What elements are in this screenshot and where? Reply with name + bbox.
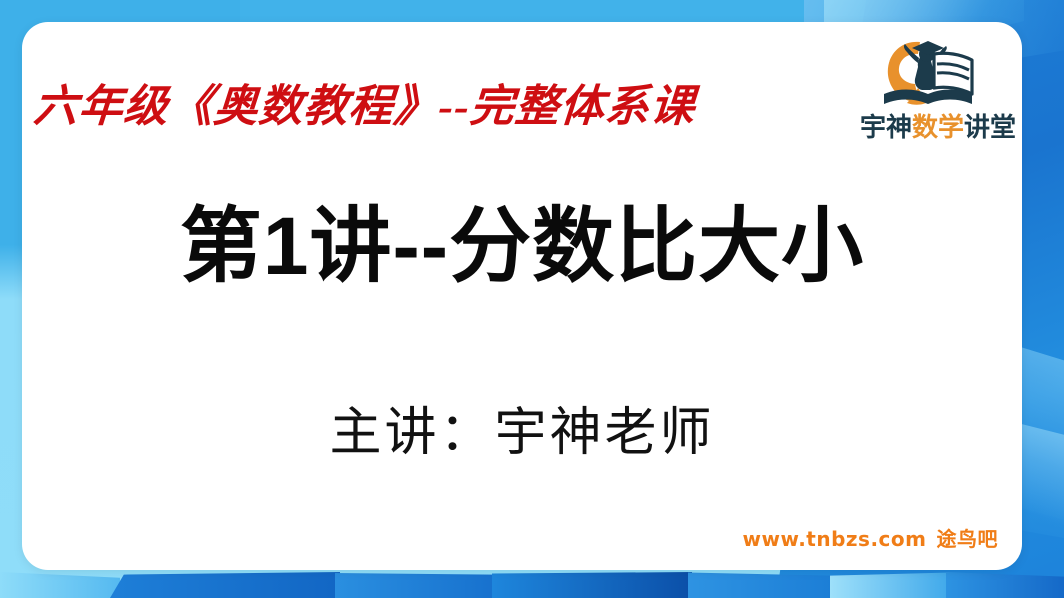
wordmark-part-1: 宇神 bbox=[860, 112, 912, 142]
wordmark-part-2: 数学 bbox=[912, 112, 964, 142]
watermark: www.tnbzs.com途鸟吧 bbox=[743, 523, 998, 552]
brand-logo: 宇神数学讲堂 bbox=[860, 30, 1000, 158]
brand-logo-wordmark: 宇神数学讲堂 bbox=[860, 114, 1000, 140]
watermark-site: www.tnbzs.com bbox=[743, 527, 927, 551]
slide-canvas: 六年级《奥数教程》--完整体系课 bbox=[0, 0, 1064, 598]
watermark-name: 途鸟吧 bbox=[937, 527, 999, 551]
presenter-line: 主讲：宇神老师 bbox=[22, 390, 1022, 465]
slide-header: 六年级《奥数教程》--完整体系课 bbox=[22, 22, 1022, 162]
slide-card: 六年级《奥数教程》--完整体系课 bbox=[22, 22, 1022, 570]
wordmark-part-3: 讲堂 bbox=[964, 112, 1016, 142]
graduate-with-book-icon bbox=[874, 32, 986, 114]
background-bottom-ribbon bbox=[0, 572, 1064, 598]
lesson-main-title: 第1讲--分数比大小 bbox=[22, 204, 1022, 290]
course-header-text: 六年级《奥数教程》--完整体系课 bbox=[32, 70, 886, 134]
